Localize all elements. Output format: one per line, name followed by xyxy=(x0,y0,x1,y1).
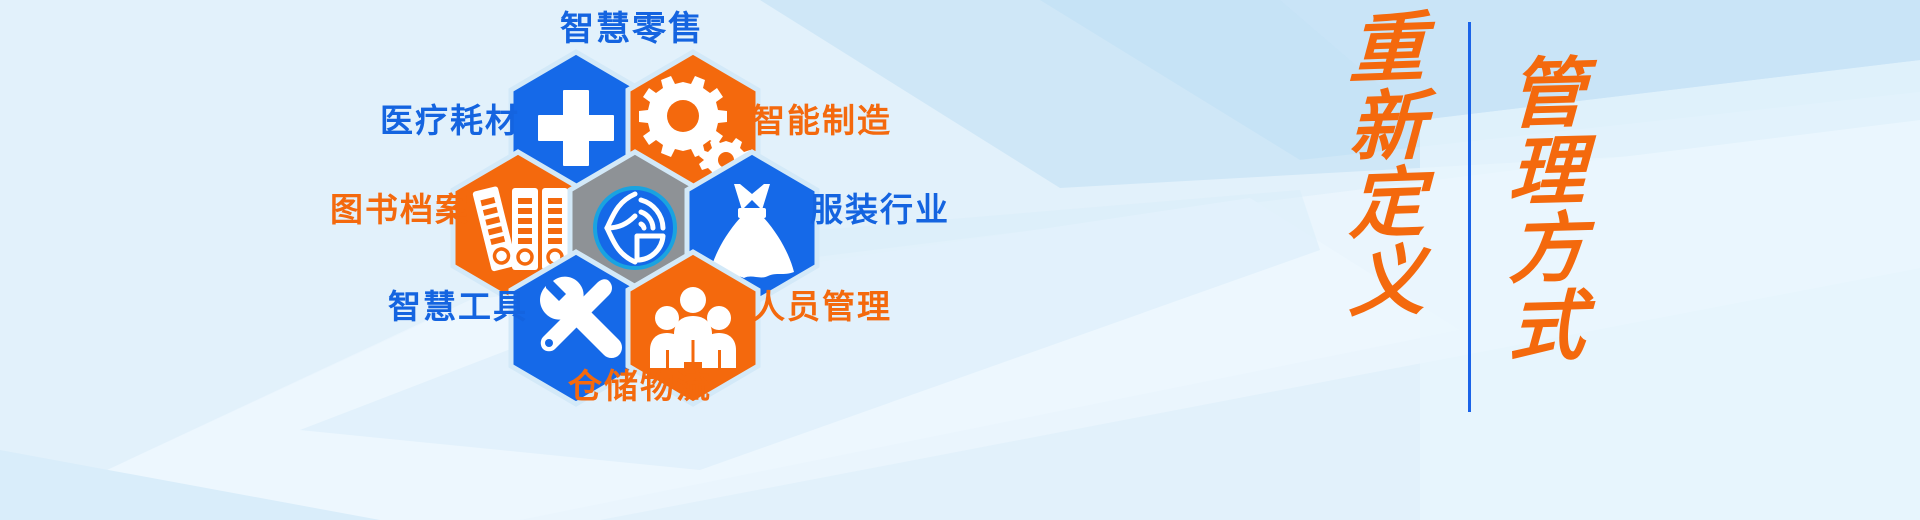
calligraphy-char: 方 xyxy=(1508,209,1586,288)
calligraphy-char: 重 xyxy=(1348,9,1425,89)
calligraphy-char: 管 xyxy=(1508,54,1586,133)
calligraphy-divider xyxy=(1468,22,1471,412)
calligraphy-char: 义 xyxy=(1348,241,1425,321)
label-medical: 医疗耗材 xyxy=(380,104,520,137)
calligraphy-char: 新 xyxy=(1348,86,1425,166)
promo-banner: 智慧零售 医疗耗材 智能制造 图书档案 服装行业 智慧工具 人员管理 仓储物流 … xyxy=(0,0,1920,520)
label-apparel: 服装行业 xyxy=(810,193,950,226)
label-archive: 图书档案 xyxy=(330,193,470,226)
background-decoration xyxy=(0,0,1920,520)
calligraphy-column-right: 管 理 方 式 xyxy=(1492,0,1602,520)
calligraphy-char: 定 xyxy=(1348,164,1425,244)
label-warehouse-logistics: 仓储物流 xyxy=(568,370,712,404)
calligraphy-column-left: 重 新 定 义 xyxy=(1332,0,1442,520)
calligraphy-char: 理 xyxy=(1508,132,1586,211)
label-tools: 智慧工具 xyxy=(388,290,528,323)
calligraphy-char: 式 xyxy=(1508,287,1586,366)
label-smart-retail: 智慧零售 xyxy=(560,12,704,46)
calligraphy-block: 重 新 定 义 管 理 方 式 xyxy=(1300,0,1600,520)
label-staff: 人员管理 xyxy=(752,290,892,323)
label-manufacturing: 智能制造 xyxy=(752,104,892,137)
